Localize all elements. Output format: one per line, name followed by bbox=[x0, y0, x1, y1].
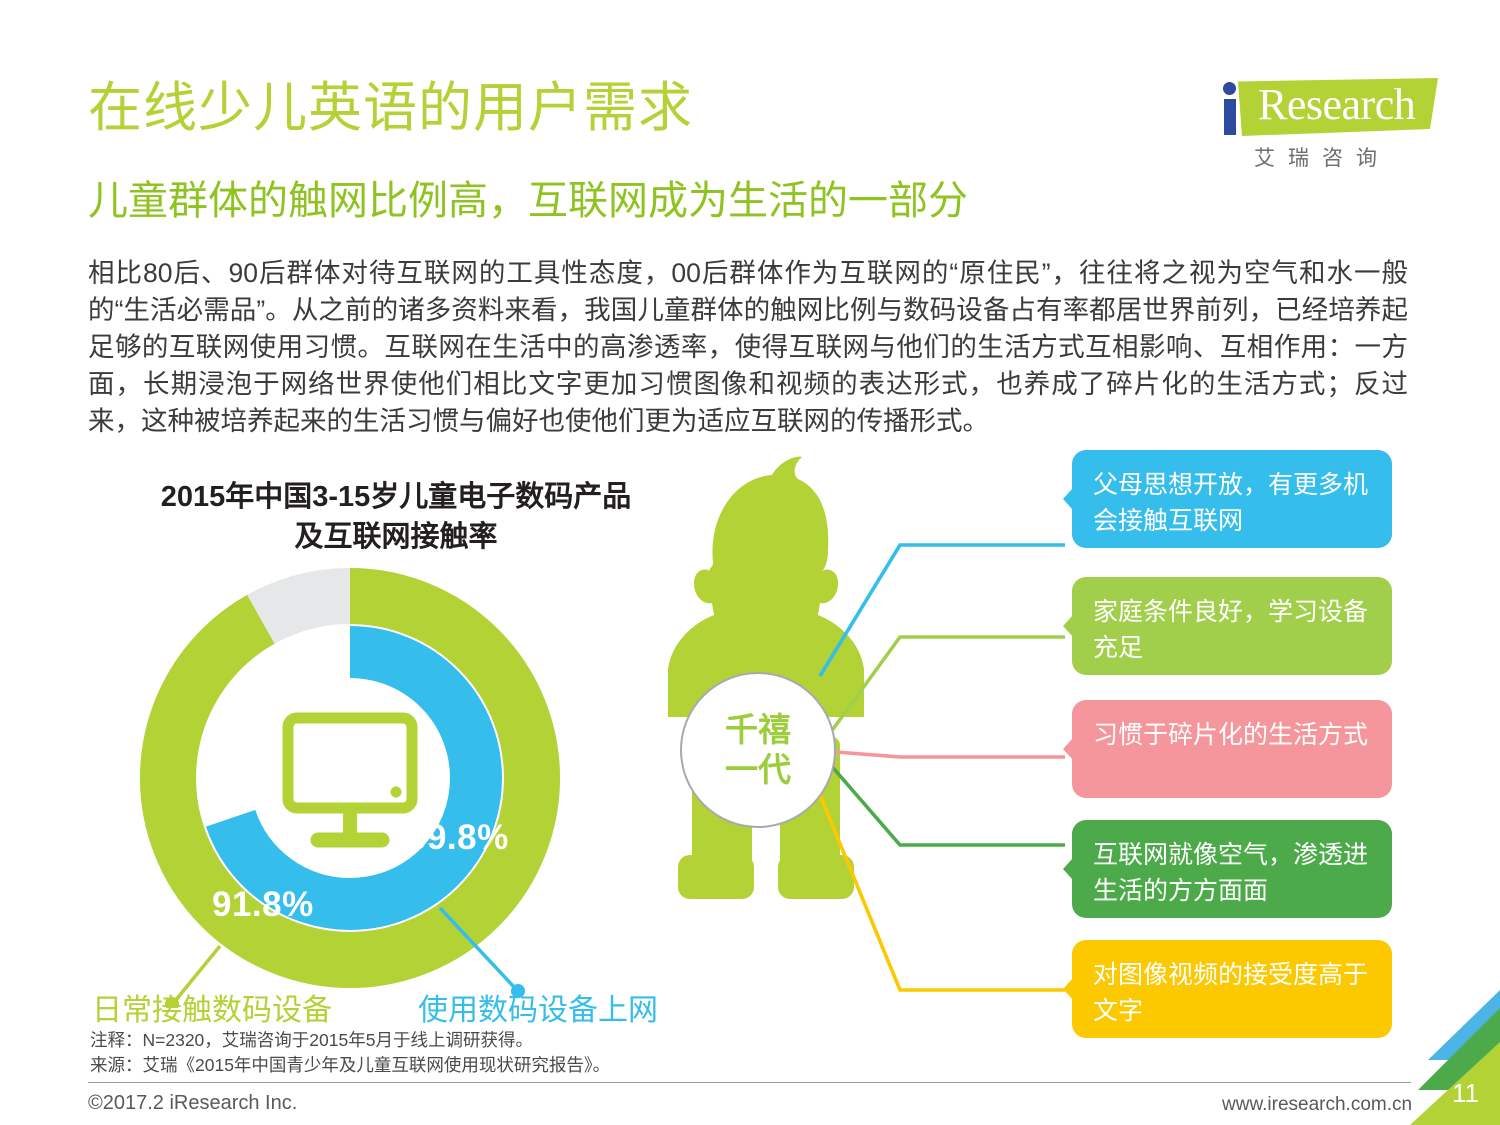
footer-divider bbox=[88, 1082, 1411, 1083]
legend-item-device-internet: 使用数码设备上网 bbox=[418, 985, 658, 1029]
page-title: 在线少儿英语的用户需求 bbox=[88, 78, 693, 138]
iresearch-logo: Research 艾瑞咨询 bbox=[1218, 72, 1443, 182]
center-bubble: 千禧 一代 bbox=[680, 672, 836, 828]
body-paragraph: 相比80后、90后群体对待互联网的工具性态度，00后群体作为互联网的“原住民”，… bbox=[88, 255, 1408, 440]
callout-text-3: 习惯于碎片化的生活方式 bbox=[1093, 721, 1368, 749]
page-number: 11 bbox=[1452, 1078, 1479, 1109]
logo-i-stem-icon bbox=[1224, 99, 1236, 135]
logo-mark: Research bbox=[1218, 72, 1443, 140]
center-bubble-line2: 一代 bbox=[725, 750, 791, 790]
corner-decoration bbox=[1370, 980, 1500, 1125]
chart-title: 2015年中国3-15岁儿童电子数码产品 及互联网接触率 bbox=[96, 477, 696, 557]
callout-tip-icon-4 bbox=[1063, 858, 1073, 880]
callout-box-3[interactable]: 习惯于碎片化的生活方式 bbox=[1072, 700, 1392, 798]
donut-chart: 91.8% 69.8% bbox=[120, 548, 580, 1008]
chart-title-line1: 2015年中国3-15岁儿童电子数码产品 bbox=[96, 477, 696, 517]
center-bubble-line1: 千禧 bbox=[725, 710, 791, 750]
callout-text-2: 家庭条件良好，学习设备充足 bbox=[1093, 598, 1368, 662]
slide-page: Research 艾瑞咨询 在线少儿英语的用户需求 儿童群体的触网比例高，互联网… bbox=[0, 0, 1500, 1125]
donut-svg bbox=[120, 548, 580, 1008]
callout-box-1[interactable]: 父母思想开放，有更多机会接触互联网 bbox=[1072, 450, 1392, 548]
page-subtitle: 儿童群体的触网比例高，互联网成为生活的一部分 bbox=[88, 178, 968, 224]
callout-tip-icon-3 bbox=[1063, 738, 1073, 760]
chart-footnotes: 注释：N=2320，艾瑞咨询于2015年5月于线上调研获得。 来源：艾瑞《201… bbox=[90, 1028, 610, 1078]
logo-chinese-name: 艾瑞咨询 bbox=[1254, 142, 1390, 172]
copyright-text: ©2017.2 iResearch Inc. bbox=[88, 1092, 297, 1115]
logo-wordmark: Research bbox=[1258, 80, 1415, 130]
callout-tip-icon-2 bbox=[1063, 615, 1073, 637]
callout-tip-icon-5 bbox=[1063, 978, 1073, 1000]
callout-box-2[interactable]: 家庭条件良好，学习设备充足 bbox=[1072, 577, 1392, 675]
callout-tip-icon-1 bbox=[1063, 488, 1073, 510]
logo-i-dot-icon bbox=[1223, 82, 1236, 95]
callout-text-5: 对图像视频的接受度高于文字 bbox=[1093, 961, 1368, 1025]
callout-text-4: 互联网就像空气，渗透进生活的方方面面 bbox=[1093, 841, 1368, 905]
callout-box-5[interactable]: 对图像视频的接受度高于文字 bbox=[1072, 940, 1392, 1038]
outer-ring-value-label: 91.8% bbox=[212, 885, 314, 925]
monitor-led-icon bbox=[391, 787, 402, 798]
chart-note: 注释：N=2320，艾瑞咨询于2015年5月于线上调研获得。 bbox=[90, 1028, 610, 1053]
chart-source: 来源：艾瑞《2015年中国青少年及儿童互联网使用现状研究报告》。 bbox=[90, 1053, 610, 1078]
legend-item-daily-device: 日常接触数码设备 bbox=[92, 985, 332, 1029]
callout-text-1: 父母思想开放，有更多机会接触互联网 bbox=[1093, 471, 1368, 535]
callout-box-4[interactable]: 互联网就像空气，渗透进生活的方方面面 bbox=[1072, 820, 1392, 918]
inner-ring-value-label: 69.8% bbox=[407, 818, 509, 858]
monitor-icon bbox=[288, 718, 412, 840]
